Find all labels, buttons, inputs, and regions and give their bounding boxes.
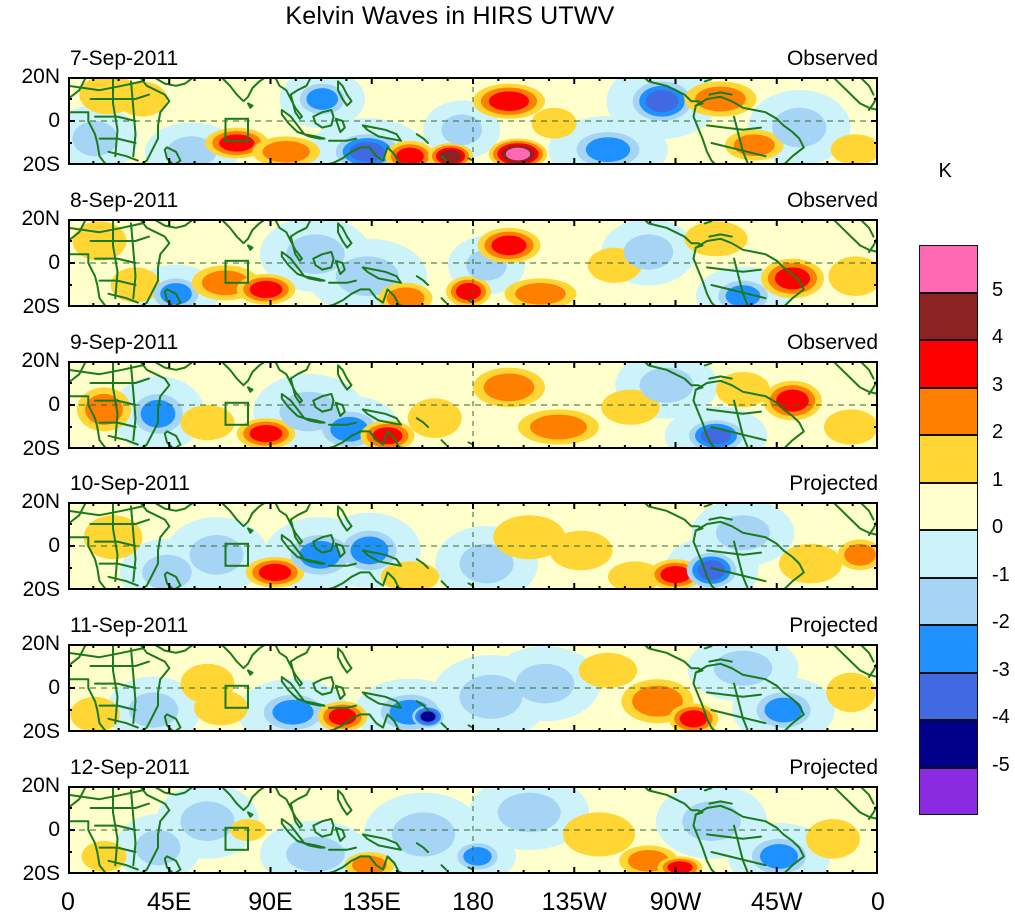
contour-field	[68, 361, 878, 449]
x-axis-tick-label: 0	[833, 888, 923, 917]
y-axis-tick-label: 0	[0, 109, 60, 133]
colorbar-band	[919, 768, 978, 816]
x-axis-tick-label: 90W	[631, 888, 721, 917]
panel-date-label: 12-Sep-2011	[70, 756, 190, 780]
colorbar-tick-label: 2	[992, 421, 1003, 444]
x-axis-tick-label: 45W	[732, 888, 822, 917]
colorbar-band	[919, 625, 978, 673]
x-axis-tick-label: 45E	[124, 888, 214, 917]
panel-kind-label: Observed	[658, 331, 878, 355]
colorbar-band	[919, 720, 978, 768]
colorbar-tick-label: -5	[992, 754, 1010, 777]
panel-kind-label: Projected	[658, 756, 878, 780]
colorbar-band	[919, 435, 978, 483]
contour-field	[68, 77, 878, 165]
x-axis-tick-label: 90E	[226, 888, 316, 917]
panel-kind-label: Projected	[658, 614, 878, 638]
panel-kind-label: Observed	[658, 189, 878, 213]
y-axis-tick-label: 20S	[0, 720, 60, 744]
panel-date-label: 9-Sep-2011	[70, 331, 178, 355]
x-axis-tick-label: 180	[428, 888, 518, 917]
colorbar-tick-label: 0	[992, 516, 1003, 539]
x-axis-tick-label: 0	[23, 888, 113, 917]
y-axis-tick-label: 20N	[0, 632, 60, 656]
x-axis-tick-label: 135E	[327, 888, 417, 917]
y-axis-tick-label: 20S	[0, 437, 60, 461]
colorbar-band	[919, 578, 978, 626]
y-axis-tick-label: 20N	[0, 207, 60, 231]
y-axis-tick-label: 20S	[0, 295, 60, 319]
y-axis-tick-label: 0	[0, 251, 60, 275]
y-axis-tick-label: 0	[0, 534, 60, 558]
y-axis-tick-label: 20S	[0, 153, 60, 177]
y-axis-tick-label: 20S	[0, 578, 60, 602]
contour-field	[68, 786, 878, 874]
page-title: Kelvin Waves in HIRS UTWV	[0, 2, 900, 31]
colorbar-band	[919, 483, 978, 531]
y-axis-tick-label: 20N	[0, 490, 60, 514]
y-axis-tick-label: 0	[0, 393, 60, 417]
colorbar-tick-label: 3	[992, 374, 1003, 397]
contour-field	[68, 502, 878, 590]
colorbar-tick-label: 1	[992, 469, 1003, 492]
panel-kind-label: Projected	[658, 472, 878, 496]
colorbar-tick-label: 5	[992, 279, 1003, 302]
colorbar-tick-label: 4	[992, 326, 1003, 349]
colorbar-unit-label: K	[939, 160, 952, 183]
panel-date-label: 7-Sep-2011	[70, 47, 178, 71]
panel-kind-label: Observed	[658, 47, 878, 71]
colorbar-band	[919, 245, 978, 293]
panel-date-label: 10-Sep-2011	[70, 472, 190, 496]
x-axis-tick-label: 135W	[529, 888, 619, 917]
colorbar-band	[919, 673, 978, 721]
colorbar-tick-label: -1	[992, 564, 1010, 587]
colorbar-band	[919, 388, 978, 436]
y-axis-tick-label: 20S	[0, 862, 60, 886]
colorbar-tick-label: -3	[992, 659, 1010, 682]
y-axis-tick-label: 20N	[0, 349, 60, 373]
colorbar-band	[919, 530, 978, 578]
y-axis-tick-label: 20N	[0, 65, 60, 89]
colorbar-band	[919, 293, 978, 341]
colorbar-band	[919, 340, 978, 388]
y-axis-tick-label: 0	[0, 818, 60, 842]
panel-date-label: 11-Sep-2011	[70, 614, 188, 638]
panel-date-label: 8-Sep-2011	[70, 189, 178, 213]
colorbar-tick-label: -4	[992, 706, 1010, 729]
y-axis-tick-label: 0	[0, 676, 60, 700]
colorbar-tick-label: -2	[992, 611, 1010, 634]
contour-field	[68, 644, 878, 732]
y-axis-tick-label: 20N	[0, 774, 60, 798]
contour-field	[68, 219, 878, 307]
